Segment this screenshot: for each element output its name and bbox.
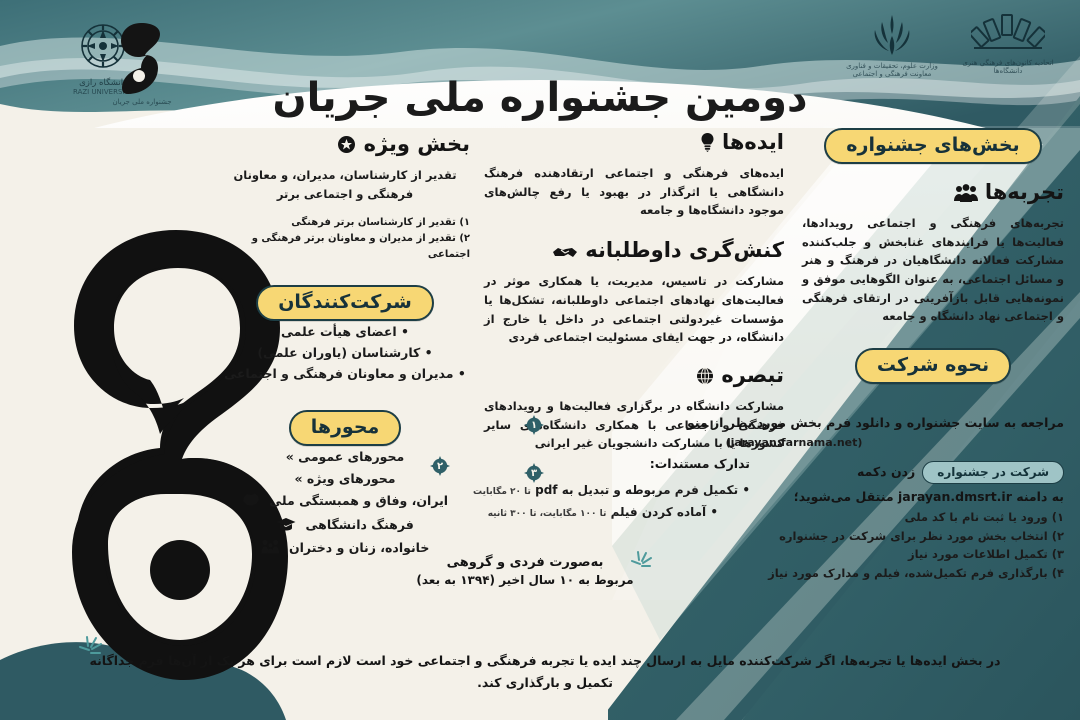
axis-label: ایران، وفاق و همبستگی ملی [269,493,448,508]
globe-icon [696,366,714,391]
volunteering-heading-label: کنش‌گری داوطلبانه [585,238,784,262]
iran-emblem-block: وزارت علوم، تحقیقات و فناوری معاونت فرهن… [840,12,944,78]
document-line-video: • آماده کردن فیلم تا ۱۰۰ مگابایت، تا ۳۰۰… [430,503,750,522]
axis-marker: » [294,471,302,486]
axes-pill-wrap: محورها [220,410,470,446]
ministry-label-line1: وزارت علوم، تحقیقات و فناوری [840,62,944,70]
footer-note: در بخش ایده‌ها یا تجربه‌ها، اگر شرکت‌کنن… [70,650,1020,694]
ideas-section: ایده‌ها ایده‌های فرهنگی و اجتماعی ارتقاد… [484,130,784,220]
volunteering-body: مشارکت در تاسیس، مدیریت، یا همکاری موثر … [484,272,784,347]
axis-label: محورهای ویژه [307,471,396,486]
axis-label: خانواده، زنان و دختران [289,540,429,555]
special-section: بخش ویژه تقدیر از کارشناسان، مدیران، و م… [220,132,470,263]
festival-sections-column: بخش‌های جشنواره تجربه‌ها تجربه‌های فرهنگ… [802,128,1064,384]
step-number: ۲ [430,456,450,476]
union-emblem-icon [971,12,1045,56]
how-to-pill: نحوه شرکت [855,348,1011,384]
document-line-note: تا ۱۰۰ مگابایت، تا ۳۰۰ ثانیه [488,509,607,519]
experiences-body: تجربه‌های فرهنگی و اجتماعی رویدادها، فعا… [802,214,1064,326]
experiences-heading-label: تجربه‌ها [985,180,1064,204]
special-item: ۲) تقدیر از مدیران و معاونان برتر فرهنگی… [220,231,470,263]
family-icon [261,539,280,561]
note-heading-row: تبصره [484,363,784,391]
festival-sections-pill: بخش‌های جشنواره [824,128,1041,164]
participants-item: • کارشناسان (یاوران علمی) [220,342,470,363]
festival-sections-pill-wrap: بخش‌های جشنواره [802,128,1064,164]
iran-emblem-icon [871,12,913,58]
experiences-heading-row: تجربه‌ها [802,180,1064,208]
handshake-icon [552,241,578,266]
how-to-step-1: ۱ مراجعه به سایت جشنواره و دانلود فرم بخ… [524,414,1064,449]
volunteering-heading-row: کنش‌گری داوطلبانه [484,238,784,266]
participants-pill-wrap: شرکت‌کنندگان [220,285,470,321]
sparkle-icon [76,634,104,669]
document-line-note: تا ۲۰ مگابایت [473,487,531,497]
iran-map-icon [242,492,260,514]
sparkle-icon [628,549,654,579]
ideas-body: ایده‌های فرهنگی و اجتماعی ارتقادهنده فره… [484,164,784,220]
union-emblem-block: اتحادیه کانون‌های فرهنگی هنری دانشگاه‌ها [956,12,1060,75]
graduation-cap-icon [276,516,296,538]
how-to-pill-wrap: نحوه شرکت [802,348,1064,384]
step-number-badge: ۱ [524,415,544,435]
step-text: مراجعه به سایت جشنواره و دانلود فرم بخش … [551,414,1064,432]
special-body: تقدیر از کارشناسان، مدیران، و معاونان فر… [220,166,470,203]
documents-block: ۲ تدارک مستندات: • تکمیل فرم مربوطه و تب… [430,455,750,521]
document-line-main: • آماده کردن فیلم [611,505,718,519]
document-line-main: • تکمیل فرم مربوطه و تبدیل به pdf [535,483,750,497]
star-badge-icon [337,135,356,160]
volunteering-section: کنش‌گری داوطلبانه مشارکت در تاسیس، مدیری… [484,238,784,347]
join-festival-button[interactable]: شرکت در جشنواره [922,461,1064,484]
lightbulb-icon [700,132,715,158]
special-item: ۱) تقدیر از کارشناسان برتر فرهنگی [220,215,470,231]
people-group-icon [954,183,978,208]
axes-pill: محورها [289,410,402,446]
special-heading-label: بخش ویژه [364,132,470,156]
note-heading-label: تبصره [721,363,784,387]
substep-item: ۲) انتخاب بخش مورد نظر برای شرکت در جشنو… [524,527,1064,546]
axis-label: فرهنگ دانشگاهی [306,517,414,532]
special-heading-row: بخش ویژه [220,132,470,160]
participants-item: • اعضای هیأت علمی [220,321,470,342]
individual-group-line2: مربوط به ۱۰ سال اخیر (۱۳۹۴ به بعد) [400,573,650,587]
documents-heading: تدارک مستندات: [457,455,750,473]
festival-website-url[interactable]: (jarayan.farnama.net) [524,436,1064,449]
special-items: ۱) تقدیر از کارشناسان برتر فرهنگی ۲) تقد… [220,215,470,263]
step-number: ۱ [524,415,544,435]
axis-marker: » [286,449,294,464]
page-title: دومین جشنواره ملی جریان [0,75,1080,121]
ideas-heading-row: ایده‌ها [484,130,784,158]
participants-pill: شرکت‌کنندگان [256,285,434,321]
experiences-section: تجربه‌ها تجربه‌های فرهنگی و اجتماعی روید… [802,180,1064,326]
participants-list: • اعضای هیأت علمی • کارشناسان (یاوران عل… [220,321,470,384]
individual-group-line1: به‌صورت فردی و گروهی [400,555,650,570]
document-line-form: • تکمیل فرم مربوطه و تبدیل به pdf تا ۲۰ … [430,481,750,500]
step-number-badge: ۲ [430,456,450,476]
ideas-heading-label: ایده‌ها [722,130,784,154]
footer-note-text: در بخش ایده‌ها یا تجربه‌ها، اگر شرکت‌کنن… [90,653,1001,690]
individual-group-block: به‌صورت فردی و گروهی مربوط به ۱۰ سال اخی… [400,555,650,587]
poster-root: دانشگاه رازی RAZI UNIVERSITY جشنواره ملی… [0,0,1080,720]
axis-label: محورهای عمومی [298,449,404,464]
participants-item: • مدیران و معاونان فرهنگی و اجتماعی [220,363,470,384]
union-label: اتحادیه کانون‌های فرهنگی هنری دانشگاه‌ها [956,59,1060,75]
